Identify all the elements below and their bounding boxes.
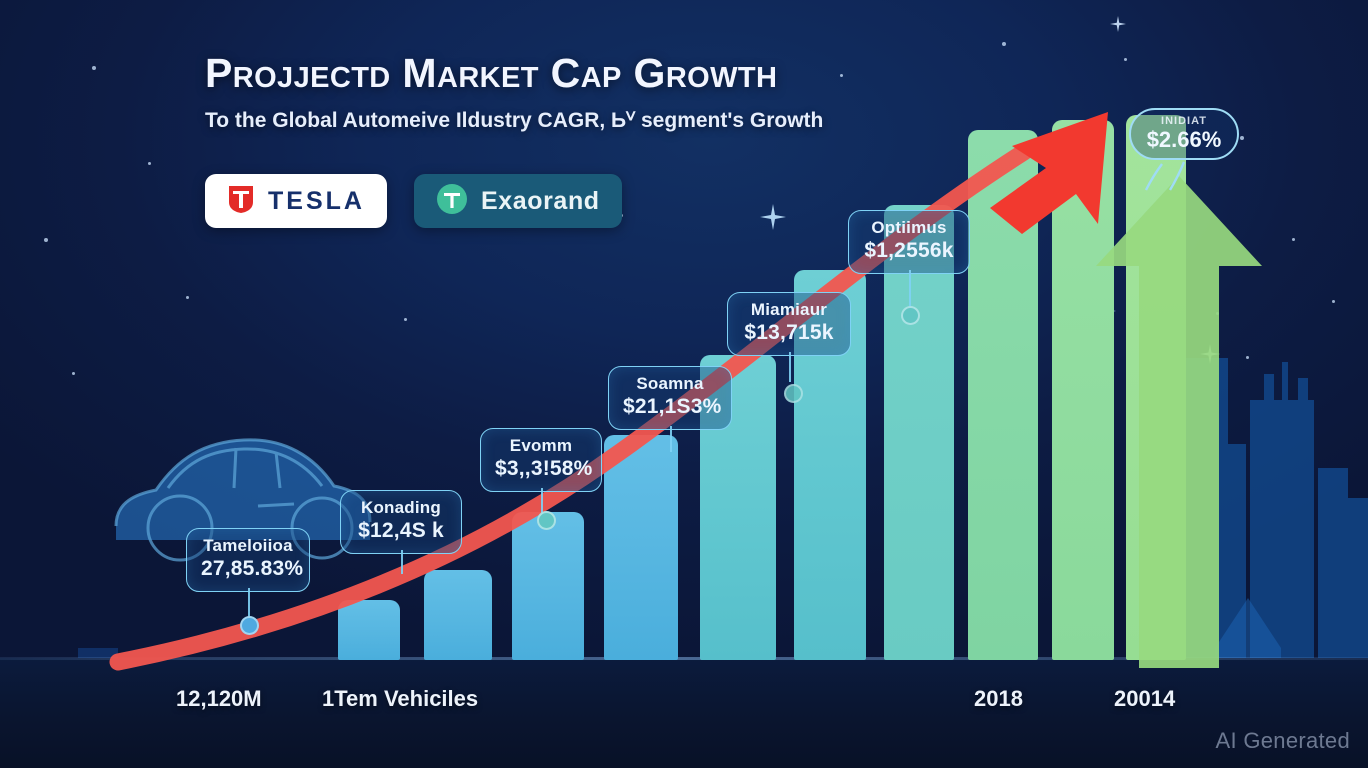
callout-leader-line xyxy=(401,550,403,574)
callout-tameloiioa[interactable]: Tameloiioa 27,85.83% xyxy=(186,528,310,592)
callout-evomm[interactable]: Evomm $3,,3!58% xyxy=(480,428,602,492)
callout-leader-line xyxy=(248,588,250,618)
axis-label-3: 2018 xyxy=(974,686,1023,712)
tesla-t-circle-icon xyxy=(436,183,468,220)
bar-1[interactable] xyxy=(338,600,400,660)
callout-soamna[interactable]: Soamna $21,1S3% xyxy=(608,366,732,430)
bar-2[interactable] xyxy=(424,570,492,660)
tesla-badge[interactable]: TESLA xyxy=(205,174,387,228)
bar-4[interactable] xyxy=(604,435,678,660)
highlight-bubble[interactable]: INIDIAT $2.66% xyxy=(1129,108,1239,160)
callout-value: $3,,3!58% xyxy=(495,456,587,482)
callout-value: $12,4S k xyxy=(355,518,447,544)
expand-badge[interactable]: Exaorand xyxy=(414,174,622,228)
callout-label: Evomm xyxy=(495,436,587,456)
callout-optiimus[interactable]: Optiimus $1,2556k xyxy=(848,210,970,274)
trend-point-marker[interactable] xyxy=(901,306,920,325)
bubble-tail-icon xyxy=(1140,158,1200,192)
infographic-canvas: Projjectd Market Cap Growth To the Globa… xyxy=(0,0,1368,768)
callout-leader-line xyxy=(789,352,791,382)
bubble-value: $2.66% xyxy=(1147,127,1222,152)
page-subtitle: To the Global Automeive Ildustry CAGR, Ь… xyxy=(205,108,823,133)
bar-8[interactable] xyxy=(968,130,1038,660)
callout-value: $13,715k xyxy=(742,320,836,346)
brand-badge-group: TESLA Exaorand xyxy=(205,174,622,228)
callout-miamiaur[interactable]: Miamiaur $13,715k xyxy=(727,292,851,356)
callout-label: Soamna xyxy=(623,374,717,394)
green-growth-arrow-icon xyxy=(1094,168,1264,668)
trend-point-marker[interactable] xyxy=(240,616,259,635)
callout-value: 27,85.83% xyxy=(201,556,295,582)
axis-label-4: 20014 xyxy=(1114,686,1175,712)
axis-label-1: 12,120M xyxy=(176,686,262,712)
callout-leader-line xyxy=(670,426,672,452)
page-title: Projjectd Market Cap Growth xyxy=(205,50,777,97)
tesla-t-icon xyxy=(227,184,255,219)
callout-value: $21,1S3% xyxy=(623,394,717,420)
callout-konading[interactable]: Konading $12,4S k xyxy=(340,490,462,554)
callout-label: Konading xyxy=(355,498,447,518)
bubble-label: INIDIAT xyxy=(1161,116,1207,127)
trend-point-marker[interactable] xyxy=(537,511,556,530)
trend-point-marker[interactable] xyxy=(784,384,803,403)
callout-label: Miamiaur xyxy=(742,300,836,320)
callout-label: Optiimus xyxy=(863,218,955,238)
callout-value: $1,2556k xyxy=(863,238,955,264)
tesla-badge-label: TESLA xyxy=(268,187,365,216)
expand-badge-label: Exaorand xyxy=(481,187,600,216)
bar-3[interactable] xyxy=(512,512,584,660)
ai-generated-watermark: AI Generated xyxy=(1216,728,1350,754)
axis-label-2: 1Tem Vehiciles xyxy=(322,686,478,712)
callout-label: Tameloiioa xyxy=(201,536,295,556)
